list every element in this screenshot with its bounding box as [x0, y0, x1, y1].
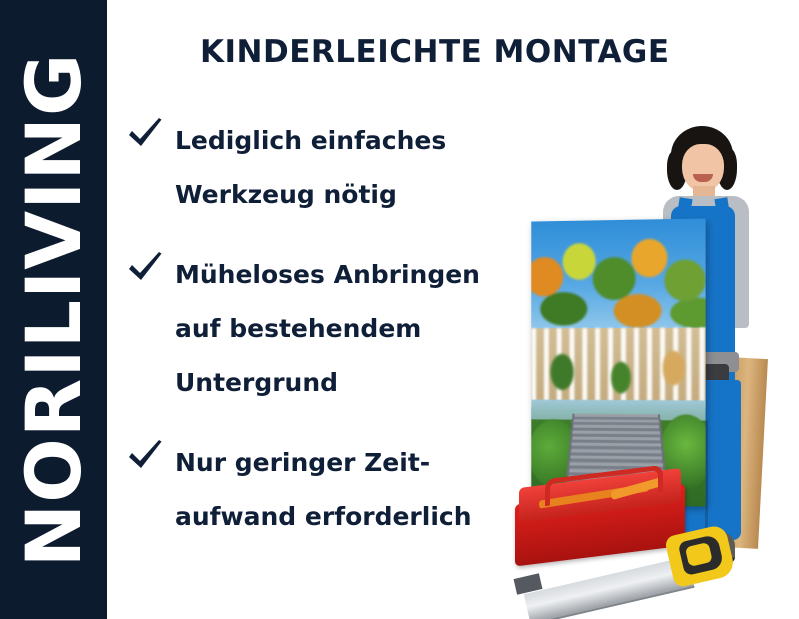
- product-photo: [505, 120, 799, 619]
- list-item: Lediglich einfaches Werkzeug nötig: [126, 114, 526, 222]
- hand-saw: [523, 512, 733, 619]
- feature-list: Lediglich einfaches Werkzeug nötig Mühel…: [126, 114, 526, 570]
- list-item-line: Nur geringer Zeit-: [175, 436, 526, 490]
- checkmark-icon: [126, 250, 166, 286]
- checkmark-icon: [126, 438, 166, 474]
- list-item-line: Lediglich einfaches: [175, 114, 526, 168]
- face: [682, 144, 724, 192]
- brand-sidebar: NORILIVING: [0, 0, 107, 619]
- list-item-line: Müheloses Anbringen: [175, 248, 526, 302]
- checkmark-icon: [126, 116, 166, 152]
- list-item-text: Lediglich einfaches Werkzeug nötig: [175, 114, 526, 222]
- list-item: Müheloses Anbringen auf bestehendem Unte…: [126, 248, 526, 410]
- list-item-text: Müheloses Anbringen auf bestehendem Unte…: [175, 248, 526, 410]
- saw-blade: [524, 556, 695, 619]
- brand-logo-text: NORILIVING: [16, 52, 92, 567]
- canvas-print: [531, 218, 705, 506]
- page-title: KINDERLEICHTE MONTAGE: [200, 34, 670, 70]
- list-item-line: auf bestehendem: [175, 302, 526, 356]
- promo-banner: NORILIVING KINDERLEICHTE MONTAGE Ledigli…: [0, 0, 799, 619]
- list-item-text: Nur geringer Zeit- aufwand erforderlich: [175, 436, 526, 544]
- list-item-line: Untergrund: [175, 356, 526, 410]
- list-item-line: Werkzeug nötig: [175, 168, 526, 222]
- canvas-waterfalls: [531, 328, 705, 409]
- list-item-line: aufwand erforderlich: [175, 490, 526, 544]
- list-item: Nur geringer Zeit- aufwand erforderlich: [126, 436, 526, 544]
